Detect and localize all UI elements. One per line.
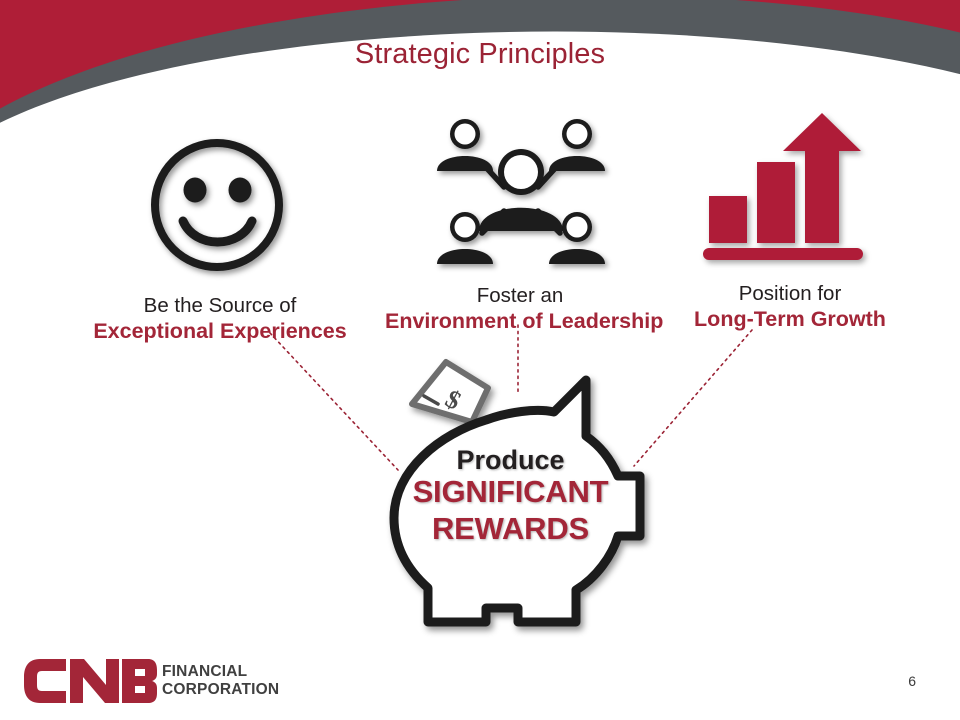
pillar-long-term-growth: Position for Long-Term Growth: [665, 108, 915, 332]
logo-wordmark: FINANCIAL CORPORATION: [162, 663, 279, 698]
growth-bar-2: [757, 162, 795, 243]
pillar-environment-of-leadership: Foster an Environment of Leadership: [385, 110, 655, 334]
pillar-1-caption-line1: Be the Source of: [55, 293, 385, 318]
piggy-caption-line1: Produce: [368, 446, 653, 474]
cnb-financial-logo: FINANCIAL CORPORATION: [22, 655, 272, 707]
pillar-exceptional-experiences: Be the Source of Exceptional Experiences: [55, 120, 385, 344]
cnb-logo-mark: [22, 655, 157, 705]
pillar-3-caption-line1: Position for: [665, 281, 915, 306]
pillar-2-caption-line2: Environment of Leadership: [385, 308, 655, 334]
logo-word-financial: FINANCIAL: [162, 663, 279, 681]
people-network-icon: [420, 115, 620, 275]
pillar-1-caption-line2: Exceptional Experiences: [55, 318, 385, 344]
growth-bar-chart-arrow-icon: [695, 111, 885, 273]
pillar-1-icon-wrap: [55, 120, 385, 285]
page-number: 6: [908, 673, 916, 689]
pillar-2-icon-wrap: [385, 110, 655, 275]
logo-word-corporation: CORPORATION: [162, 681, 279, 699]
piggy-bank-graphic: $ Produce SIGNIFICANT REWARDS: [368, 350, 688, 650]
pillar-3-icon-wrap: [665, 108, 915, 273]
growth-baseline: [703, 248, 863, 260]
smiley-face-icon: [145, 133, 295, 285]
dollar-bill-icon: $: [412, 362, 488, 422]
piggy-bank-caption: Produce SIGNIFICANT REWARDS: [368, 446, 653, 547]
pillar-3-caption-line2: Long-Term Growth: [665, 306, 915, 332]
growth-bar-1: [709, 196, 747, 243]
page-title: Strategic Principles: [0, 38, 960, 71]
piggy-caption-line3: REWARDS: [368, 511, 653, 547]
slide-canvas: Strategic Principles Be t: [0, 0, 960, 720]
piggy-caption-line2: SIGNIFICANT: [368, 474, 653, 510]
pillar-2-caption-line1: Foster an: [385, 283, 655, 308]
